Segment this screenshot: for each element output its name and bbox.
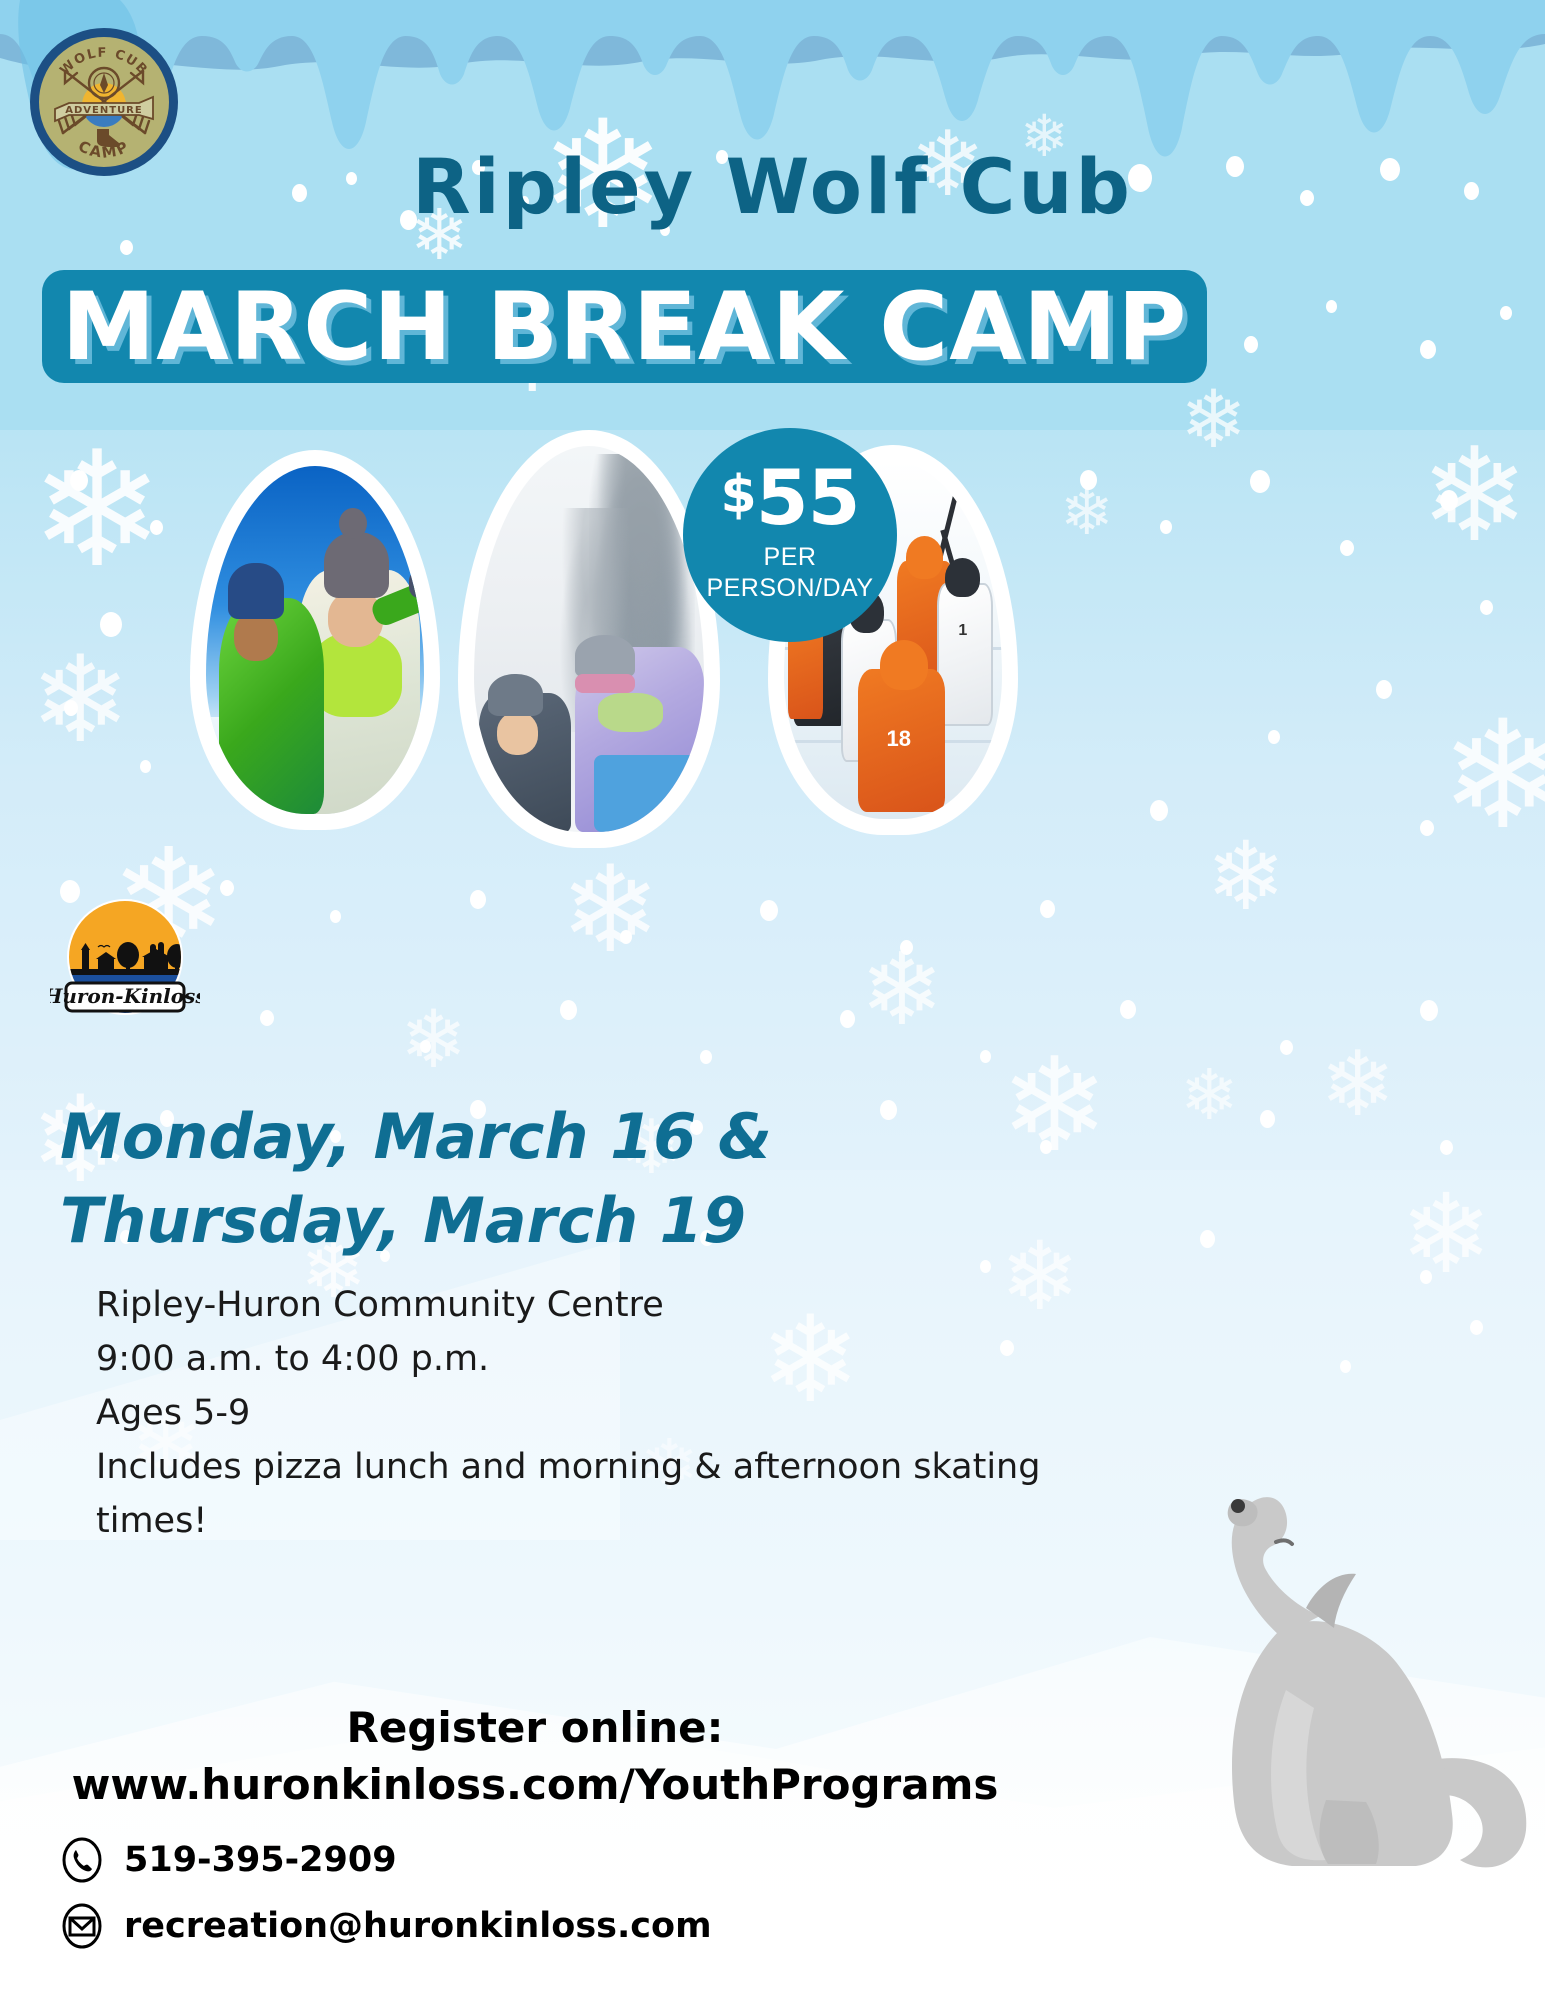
huron-kinloss-logo-label: Huron-Kinloss	[50, 984, 200, 1008]
price-currency: $	[721, 465, 756, 525]
camp-badge-ribbon-text: ADVENTURE	[65, 105, 142, 116]
contact-phone-text: 519-395-2909	[124, 1840, 397, 1880]
register-url[interactable]: www.huronkinloss.com/YouthPrograms	[0, 1756, 1070, 1814]
snowflake-icon: ❄	[1180, 1060, 1239, 1130]
price-unit-line2: PERSON/DAY	[683, 573, 897, 603]
price-badge: $55 PER PERSON/DAY	[683, 428, 897, 642]
contact-email-text: recreation@huronkinloss.com	[124, 1906, 712, 1946]
snowflake-icon: ❄	[1000, 1040, 1109, 1170]
snowflake-icon: ❄	[400, 1000, 467, 1080]
price-unit-line1: PER	[683, 541, 897, 573]
photo-kids-piggyback-snow	[190, 450, 440, 830]
snowflake-icon: ❄	[1320, 1040, 1395, 1130]
register-block: Register online: www.huronkinloss.com/Yo…	[0, 1700, 1070, 1814]
contact-phone[interactable]: 519-395-2909	[58, 1836, 397, 1884]
detail-venue: Ripley-Huron Community Centre	[96, 1278, 1046, 1332]
envelope-icon	[58, 1902, 106, 1950]
page-title-script: Ripley Wolf Cub	[0, 142, 1545, 231]
photo-kids-snowball-blizzard	[458, 430, 720, 848]
snowflake-icon: ❄	[560, 850, 661, 970]
register-heading: Register online:	[0, 1700, 1070, 1756]
wolf-nose	[1231, 1499, 1245, 1513]
price-value: 55	[756, 453, 860, 542]
camp-details: Ripley-Huron Community Centre 9:00 a.m. …	[96, 1278, 1046, 1548]
snowflake-icon: ❄	[860, 940, 944, 1040]
march-break-camp-banner: MARCH BREAK CAMP	[42, 270, 1207, 383]
march-break-camp-poster: ❄ ❄ ❄ ❄ ❄ ❄ ❄ ❄ ❄ ❄ ❄ ❄ ❄ ❄ ❄ ❄ ❄ ❄ ❄ ❄ …	[0, 0, 1545, 1999]
banner-title: MARCH BREAK CAMP	[42, 278, 1207, 378]
camp-date-line-2: Thursday, March 19	[60, 1179, 960, 1263]
detail-includes: Includes pizza lunch and morning & after…	[96, 1440, 1046, 1548]
detail-ages: Ages 5-9	[96, 1386, 1046, 1440]
camp-date-line-1: Monday, March 16 &	[60, 1095, 960, 1179]
huron-kinloss-logo: Huron-Kinloss	[50, 895, 200, 1030]
detail-time: 9:00 a.m. to 4:00 p.m.	[96, 1332, 1046, 1386]
howling-wolf-illustration	[1130, 1430, 1545, 1890]
contact-email[interactable]: recreation@huronkinloss.com	[58, 1902, 712, 1950]
camp-dates: Monday, March 16 & Thursday, March 19	[60, 1095, 960, 1263]
price-amount: $55	[683, 428, 897, 537]
snowflake-icon: ❄	[1400, 1180, 1492, 1290]
phone-icon	[58, 1836, 106, 1884]
